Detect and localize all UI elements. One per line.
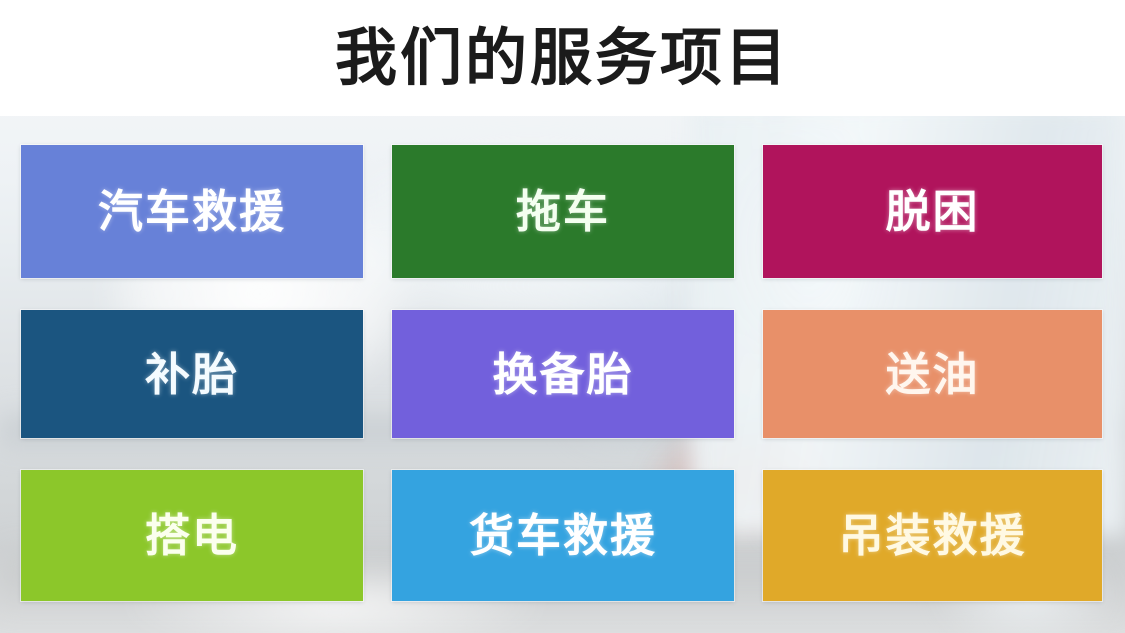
service-tile-truck-rescue[interactable]: 货车救援 [392,470,734,601]
service-tile-label: 吊装救援 [838,513,1026,558]
service-tile-tire-repair[interactable]: 补胎 [21,310,363,438]
service-tile-label: 换备胎 [492,352,633,397]
service-tile-crane-lifting-rescue[interactable]: 吊装救援 [763,470,1102,601]
service-tile-car-rescue[interactable]: 汽车救援 [21,145,363,278]
service-tile-label: 汽车救援 [98,189,286,234]
service-tile-extrication[interactable]: 脱困 [763,145,1102,278]
page-title: 我们的服务项目 [335,27,790,89]
service-tile-spare-tire-change[interactable]: 换备胎 [392,310,734,438]
service-tile-fuel-delivery[interactable]: 送油 [763,310,1102,438]
service-list-screen: 我们的服务项目 汽车救援拖车脱困补胎换备胎送油搭电货车救援吊装救援 [0,0,1125,633]
service-grid: 汽车救援拖车脱困补胎换备胎送油搭电货车救援吊装救援 [21,145,1102,601]
service-tile-label: 搭电 [145,513,239,558]
service-tile-label: 货车救援 [469,513,657,558]
service-tile-label: 拖车 [516,189,610,234]
service-tile-jump-start[interactable]: 搭电 [21,470,363,601]
header: 我们的服务项目 [0,0,1125,116]
service-tile-label: 脱困 [885,189,979,234]
service-tile-towing[interactable]: 拖车 [392,145,734,278]
service-tile-label: 补胎 [145,352,239,397]
service-tile-label: 送油 [885,352,979,397]
